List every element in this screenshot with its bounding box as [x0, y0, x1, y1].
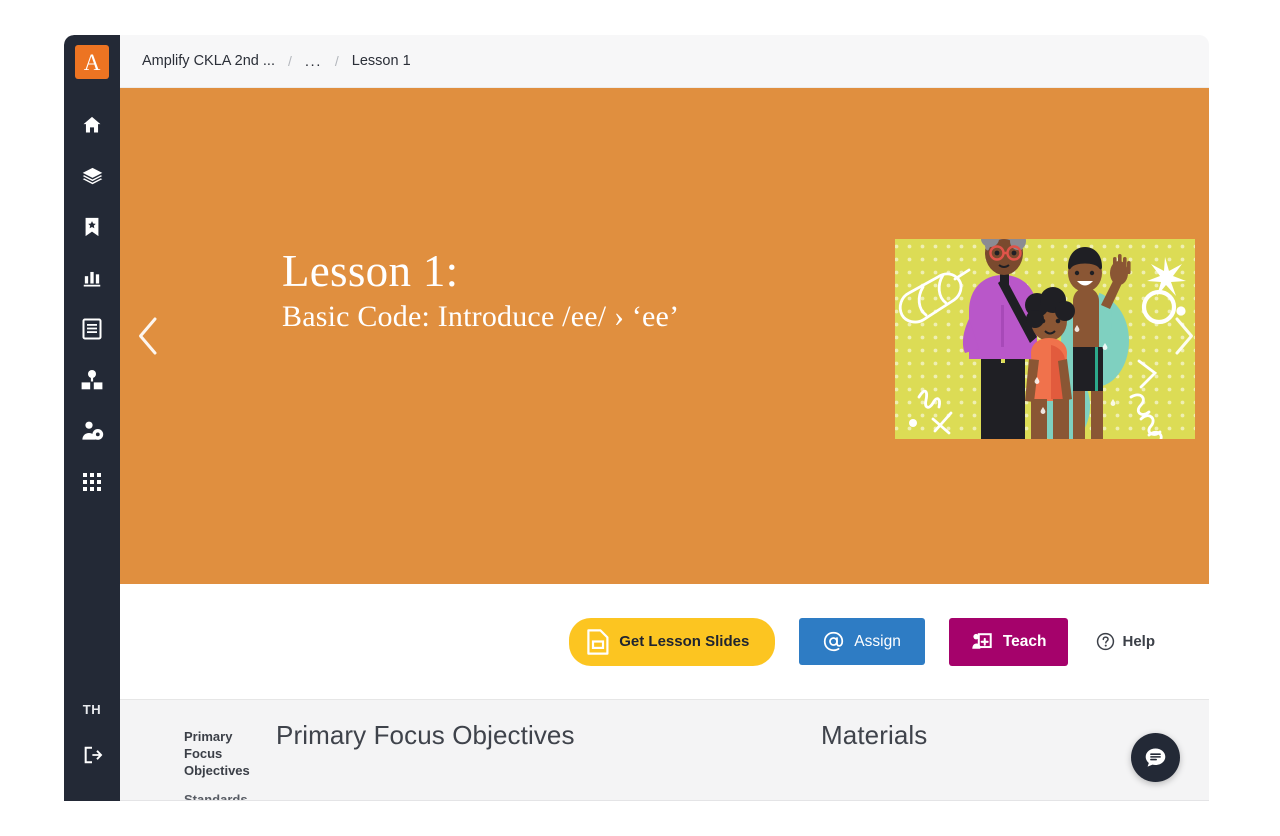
bottom-nav-standards[interactable]: Standards — [184, 791, 248, 801]
breadcrumb-separator: / — [288, 53, 292, 69]
chat-bubble-icon — [1143, 745, 1168, 770]
sidebar-item-bookmarks[interactable] — [80, 215, 104, 239]
sidebar-item-classes[interactable] — [80, 419, 104, 443]
lesson-title: Lesson 1: — [282, 248, 802, 296]
get-lesson-slides-label: Get Lesson Slides — [619, 633, 749, 650]
chevron-right-icon — [1172, 316, 1194, 356]
sidebar-item-reports[interactable] — [80, 266, 104, 290]
lesson-detail-panel: Primary Focus Objectives Standards Prima… — [120, 700, 1209, 801]
assign-button[interactable]: Assign — [799, 618, 925, 665]
previous-lesson-button[interactable] — [128, 310, 168, 362]
sidebar-item-apps[interactable] — [80, 470, 104, 494]
lesson-section-nav: Primary Focus Objectives Standards — [120, 700, 248, 800]
bookmark-star-icon — [82, 216, 102, 238]
column-primary-focus-objectives: Primary Focus Objectives — [248, 720, 793, 800]
logout-button[interactable] — [80, 743, 104, 767]
at-sign-icon — [823, 631, 844, 652]
home-icon — [81, 114, 103, 136]
logo-letter: A — [84, 51, 101, 74]
materials-heading: Materials — [821, 720, 927, 751]
sidebar-item-home[interactable] — [80, 113, 104, 137]
user-initials-avatar[interactable]: TH — [83, 702, 102, 717]
bottom-nav-primary-focus[interactable]: Primary Focus Objectives — [184, 728, 248, 779]
breadcrumb-ellipsis[interactable]: ... — [305, 53, 322, 70]
sidebar-footer: TH — [80, 702, 104, 801]
user-settings-icon — [80, 420, 104, 442]
app-window: A — [64, 35, 1209, 801]
apps-grid-icon — [82, 472, 102, 492]
chat-support-button[interactable] — [1131, 733, 1180, 782]
teach-label: Teach — [1003, 633, 1047, 651]
hero-text-block: Lesson 1: Basic Code: Introduce /ee/ › ‘… — [282, 248, 802, 333]
books-icon — [81, 165, 104, 188]
column-materials: Materials — [793, 720, 927, 800]
next-lesson-button[interactable] — [1163, 310, 1203, 362]
bar-chart-icon — [81, 267, 103, 289]
lesson-section-columns: Primary Focus Objectives Materials — [248, 700, 1209, 800]
sidebar-item-assignments[interactable] — [80, 317, 104, 341]
assign-label: Assign — [854, 633, 901, 651]
primary-focus-objectives-heading: Primary Focus Objectives — [276, 720, 793, 751]
open-book-icon — [80, 369, 104, 391]
main-area: Amplify CKLA 2nd ... / ... / Lesson 1 Le… — [120, 35, 1209, 801]
illustration-svg — [877, 201, 1209, 451]
sidebar-item-lessons[interactable] — [80, 368, 104, 392]
breadcrumb-separator: / — [335, 53, 339, 69]
breadcrumb: Amplify CKLA 2nd ... / ... / Lesson 1 — [120, 35, 1209, 88]
question-circle-icon — [1096, 632, 1115, 651]
amplify-logo[interactable]: A — [75, 45, 109, 79]
breadcrumb-lesson: Lesson 1 — [352, 53, 411, 69]
sidebar-item-library[interactable] — [80, 164, 104, 188]
chevron-left-icon — [137, 316, 159, 356]
family-swim-illustration — [877, 201, 1209, 451]
teach-button[interactable]: Teach — [949, 618, 1069, 666]
lesson-action-bar: Get Lesson Slides Assign Teach — [120, 584, 1209, 700]
help-button[interactable]: Help — [1092, 622, 1159, 661]
logout-icon — [81, 744, 103, 766]
sidebar: A — [64, 35, 120, 801]
document-icon — [82, 318, 102, 340]
lesson-hero-banner: Lesson 1: Basic Code: Introduce /ee/ › ‘… — [120, 88, 1209, 584]
get-lesson-slides-button[interactable]: Get Lesson Slides — [569, 618, 775, 666]
slides-icon — [587, 629, 609, 655]
breadcrumb-course[interactable]: Amplify CKLA 2nd ... — [142, 53, 275, 69]
lesson-subtitle: Basic Code: Introduce /ee/ › ‘ee’ — [282, 300, 802, 334]
present-icon — [971, 631, 993, 653]
sidebar-nav — [80, 113, 104, 494]
help-label: Help — [1122, 633, 1155, 650]
